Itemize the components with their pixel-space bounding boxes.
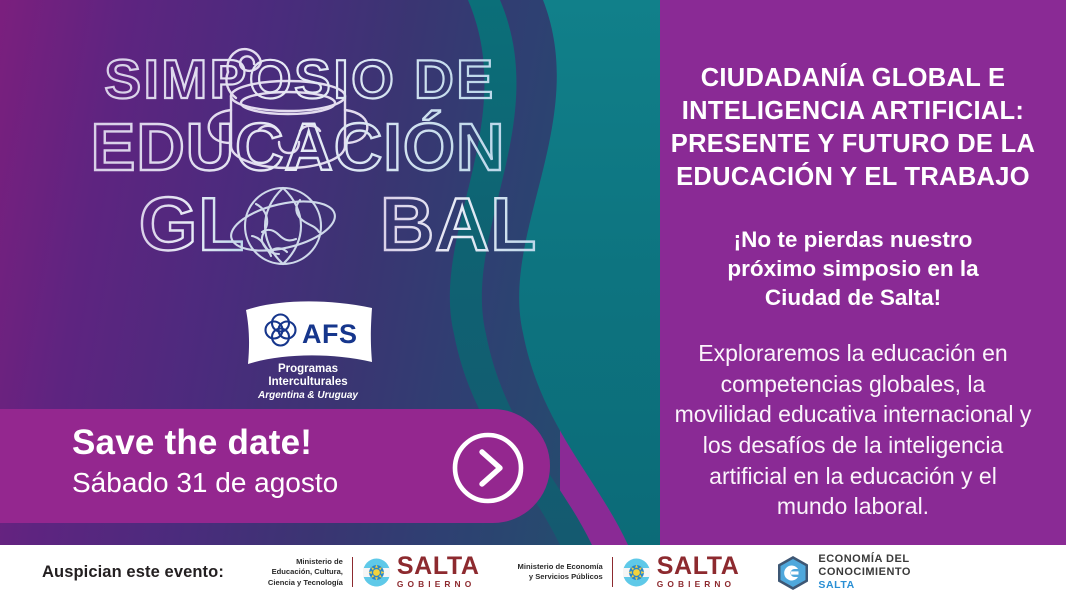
right-text-column: CIUDADANÍA GLOBAL E INTELIGENCIA ARTIFIC… xyxy=(650,0,1056,545)
sponsor-footer: Auspician este evento: Ministerio de Edu… xyxy=(0,545,1066,600)
ministry-economy-name: Ministerio de Economía y Servicios Públi… xyxy=(518,562,603,582)
title-line-3-suffix: BAL xyxy=(380,182,537,266)
divider-rule xyxy=(352,557,353,587)
sponsor-education: Ministerio de Educación, Cultura, Cienci… xyxy=(268,555,480,589)
knowledge-line3: SALTA xyxy=(818,579,911,592)
ministry-education-name: Ministerio de Educación, Cultura, Cienci… xyxy=(268,557,343,587)
argentina-sun-shield-icon xyxy=(622,558,651,587)
sponsor-economy: Ministerio de Economía y Servicios Públi… xyxy=(518,555,740,589)
afs-tagline-1: Programas xyxy=(278,363,338,375)
salta-gobierno-education: GOBIERNO xyxy=(397,579,480,589)
ministry-economy-line1: Ministerio de Economía xyxy=(518,562,603,572)
salta-brand-economy: SALTA xyxy=(657,555,740,578)
ministry-education-line1: Ministerio de xyxy=(268,557,343,567)
knowledge-line1: ECONOMÍA DEL xyxy=(818,553,911,566)
event-description: Exploraremos la educación en competencia… xyxy=(672,338,1034,521)
argentina-sun-shield-icon xyxy=(362,558,391,587)
sponsor-knowledge-economy: ECONOMÍA DEL CONOCIMIENTO SALTA xyxy=(775,553,911,593)
divider-rule xyxy=(612,557,613,587)
chevron-right-circle-icon[interactable] xyxy=(450,430,526,506)
ministry-education-line2: Educación, Cultura, xyxy=(268,567,343,577)
afs-acronym: AFS xyxy=(302,319,358,349)
event-subheadline: ¡No te pierdas nuestro próximo simposio … xyxy=(693,225,1013,313)
afs-tagline-2: Interculturales xyxy=(268,376,347,388)
salta-gobierno-economy: GOBIERNO xyxy=(657,579,740,589)
symposium-title-artwork: SIMPOSIO DE EDUCACIÓN GL BAL xyxy=(0,18,600,308)
title-line-3-prefix: GL xyxy=(139,182,245,266)
event-headline: CIUDADANÍA GLOBAL E INTELIGENCIA ARTIFIC… xyxy=(657,62,1049,194)
ministry-education-line3: Ciencia y Tecnología xyxy=(268,578,343,588)
title-line-2: EDUCACIÓN xyxy=(91,110,506,185)
sponsors-label: Auspician este evento: xyxy=(42,563,224,582)
save-the-date-title: Save the date! xyxy=(72,424,338,462)
salta-brand-education: SALTA xyxy=(397,555,480,578)
save-the-date-text: Save the date! Sábado 31 de agosto xyxy=(72,424,338,499)
title-line-1: SIMPOSIO DE xyxy=(104,48,495,110)
hexagon-e-icon xyxy=(775,555,811,591)
event-poster: SIMPOSIO DE EDUCACIÓN GL BAL AFS Program xyxy=(0,0,1066,600)
ministry-economy-line2: y Servicios Públicos xyxy=(518,572,603,582)
afs-region: Argentina & Uruguay xyxy=(257,390,358,401)
afs-logo: AFS Programas Interculturales Argentina … xyxy=(232,296,384,404)
save-the-date-date: Sábado 31 de agosto xyxy=(72,466,338,499)
knowledge-line2: CONOCIMIENTO xyxy=(818,566,911,579)
